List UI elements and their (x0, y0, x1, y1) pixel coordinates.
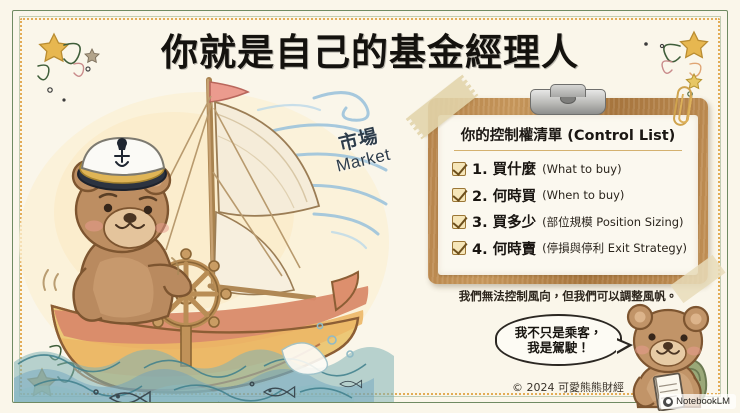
list-item-main: 1. 買什麼 (472, 158, 536, 179)
speech-bubble-line-1: 我不只是乘客， (515, 325, 603, 340)
page-title: 你就是自己的基金經理人 (0, 22, 740, 76)
clipboard-clip-icon (530, 89, 606, 115)
list-item[interactable]: 1. 買什麼 (What to buy) (452, 158, 688, 179)
control-list: 1. 買什麼 (What to buy) 2. 何時買 (When to buy… (444, 158, 692, 259)
notebooklm-watermark: NotebookLM (659, 394, 736, 409)
list-item[interactable]: 2. 何時買 (When to buy) (452, 185, 688, 206)
list-item-sub: (What to buy) (542, 162, 621, 176)
list-item-main: 2. 何時買 (472, 185, 536, 206)
list-item-sub: (部位規模 Position Sizing) (542, 214, 683, 230)
speech-bubble-line-2: 我是駕駛！ (527, 340, 590, 355)
checkbox-checked-icon[interactable] (452, 188, 466, 202)
copyright-text: © 2024 可愛熊熊財經 (512, 379, 624, 395)
list-item[interactable]: 3. 買多少 (部位規模 Position Sizing) (452, 211, 688, 232)
control-list-clipboard: 你的控制權清單 (Control List) 1. 買什麼 (What to b… (428, 98, 708, 284)
notebooklm-label: NotebookLM (676, 396, 730, 407)
list-item-sub: (停損與停利 Exit Strategy) (542, 240, 687, 256)
list-item-sub: (When to buy) (542, 188, 624, 202)
checkbox-checked-icon[interactable] (452, 241, 466, 255)
control-list-heading: 你的控制權清單 (Control List) (444, 124, 692, 150)
tagline-text: 我們無法控制風向，但我們可以調整風帆。 (428, 288, 708, 304)
checkbox-checked-icon[interactable] (452, 215, 466, 229)
notebooklm-logo-icon (663, 397, 673, 407)
heading-divider (454, 150, 682, 151)
list-item-main: 3. 買多少 (472, 211, 536, 232)
list-item-main: 4. 何時賣 (472, 238, 536, 259)
poster-canvas: 你就是自己的基金經理人 (0, 0, 740, 413)
clipboard-paper: 你的控制權清單 (Control List) 1. 買什麼 (What to b… (438, 115, 698, 275)
speech-bubble: 我不只是乘客， 我是駕駛！ (495, 314, 622, 366)
checkbox-checked-icon[interactable] (452, 162, 466, 176)
list-item[interactable]: 4. 何時賣 (停損與停利 Exit Strategy) (452, 238, 688, 259)
illustration-sailboat-scene (14, 62, 434, 402)
